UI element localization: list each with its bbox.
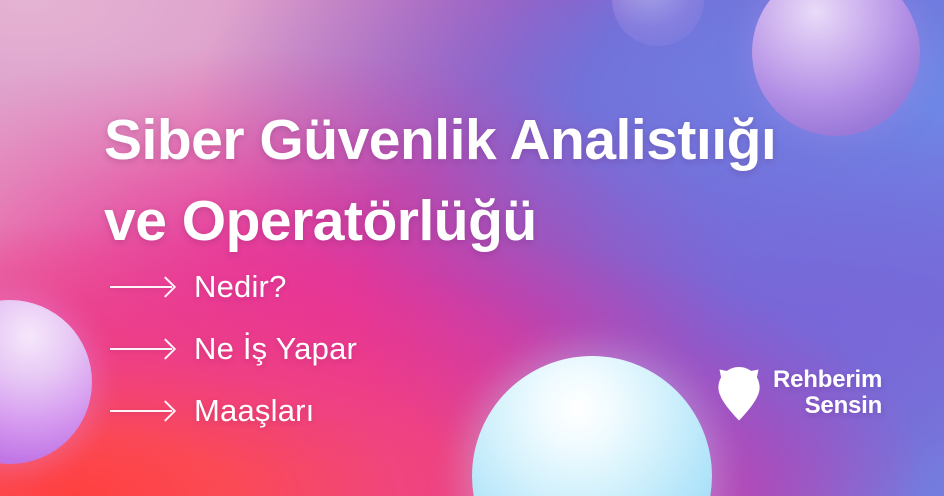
bullet-label-nedir: Nedir? bbox=[194, 269, 287, 305]
headline: Siber Güvenlik Analistıığı ve Operatörlü… bbox=[104, 100, 924, 262]
list-item: Ne İş Yapar bbox=[110, 318, 357, 380]
long-right-arrow-icon bbox=[110, 286, 172, 288]
brand-logo: Rehberim Sensin bbox=[714, 364, 882, 422]
bullet-label-maaslari: Maaşları bbox=[194, 393, 314, 429]
long-right-arrow-icon bbox=[110, 410, 172, 412]
list-item: Nedir? bbox=[110, 256, 357, 318]
list-item: Maaşları bbox=[110, 380, 357, 442]
long-right-arrow-icon bbox=[110, 348, 172, 350]
bullet-list: Nedir? Ne İş Yapar Maaşları bbox=[110, 256, 357, 442]
promo-banner: Siber Güvenlik Analistıığı ve Operatörlü… bbox=[0, 0, 944, 496]
brand-name-line-2: Sensin bbox=[773, 393, 882, 419]
brand-logo-text: Rehberim Sensin bbox=[773, 367, 882, 418]
banner-content: Siber Güvenlik Analistıığı ve Operatörlü… bbox=[0, 0, 944, 496]
bullet-label-ne-is-yapar: Ne İş Yapar bbox=[194, 331, 357, 367]
map-pin-compass-icon bbox=[714, 364, 764, 422]
brand-name-line-1: Rehberim bbox=[773, 366, 882, 393]
headline-line-2: ve Operatörlüğü bbox=[104, 181, 924, 262]
headline-line-1: Siber Güvenlik Analistıığı bbox=[104, 100, 924, 181]
